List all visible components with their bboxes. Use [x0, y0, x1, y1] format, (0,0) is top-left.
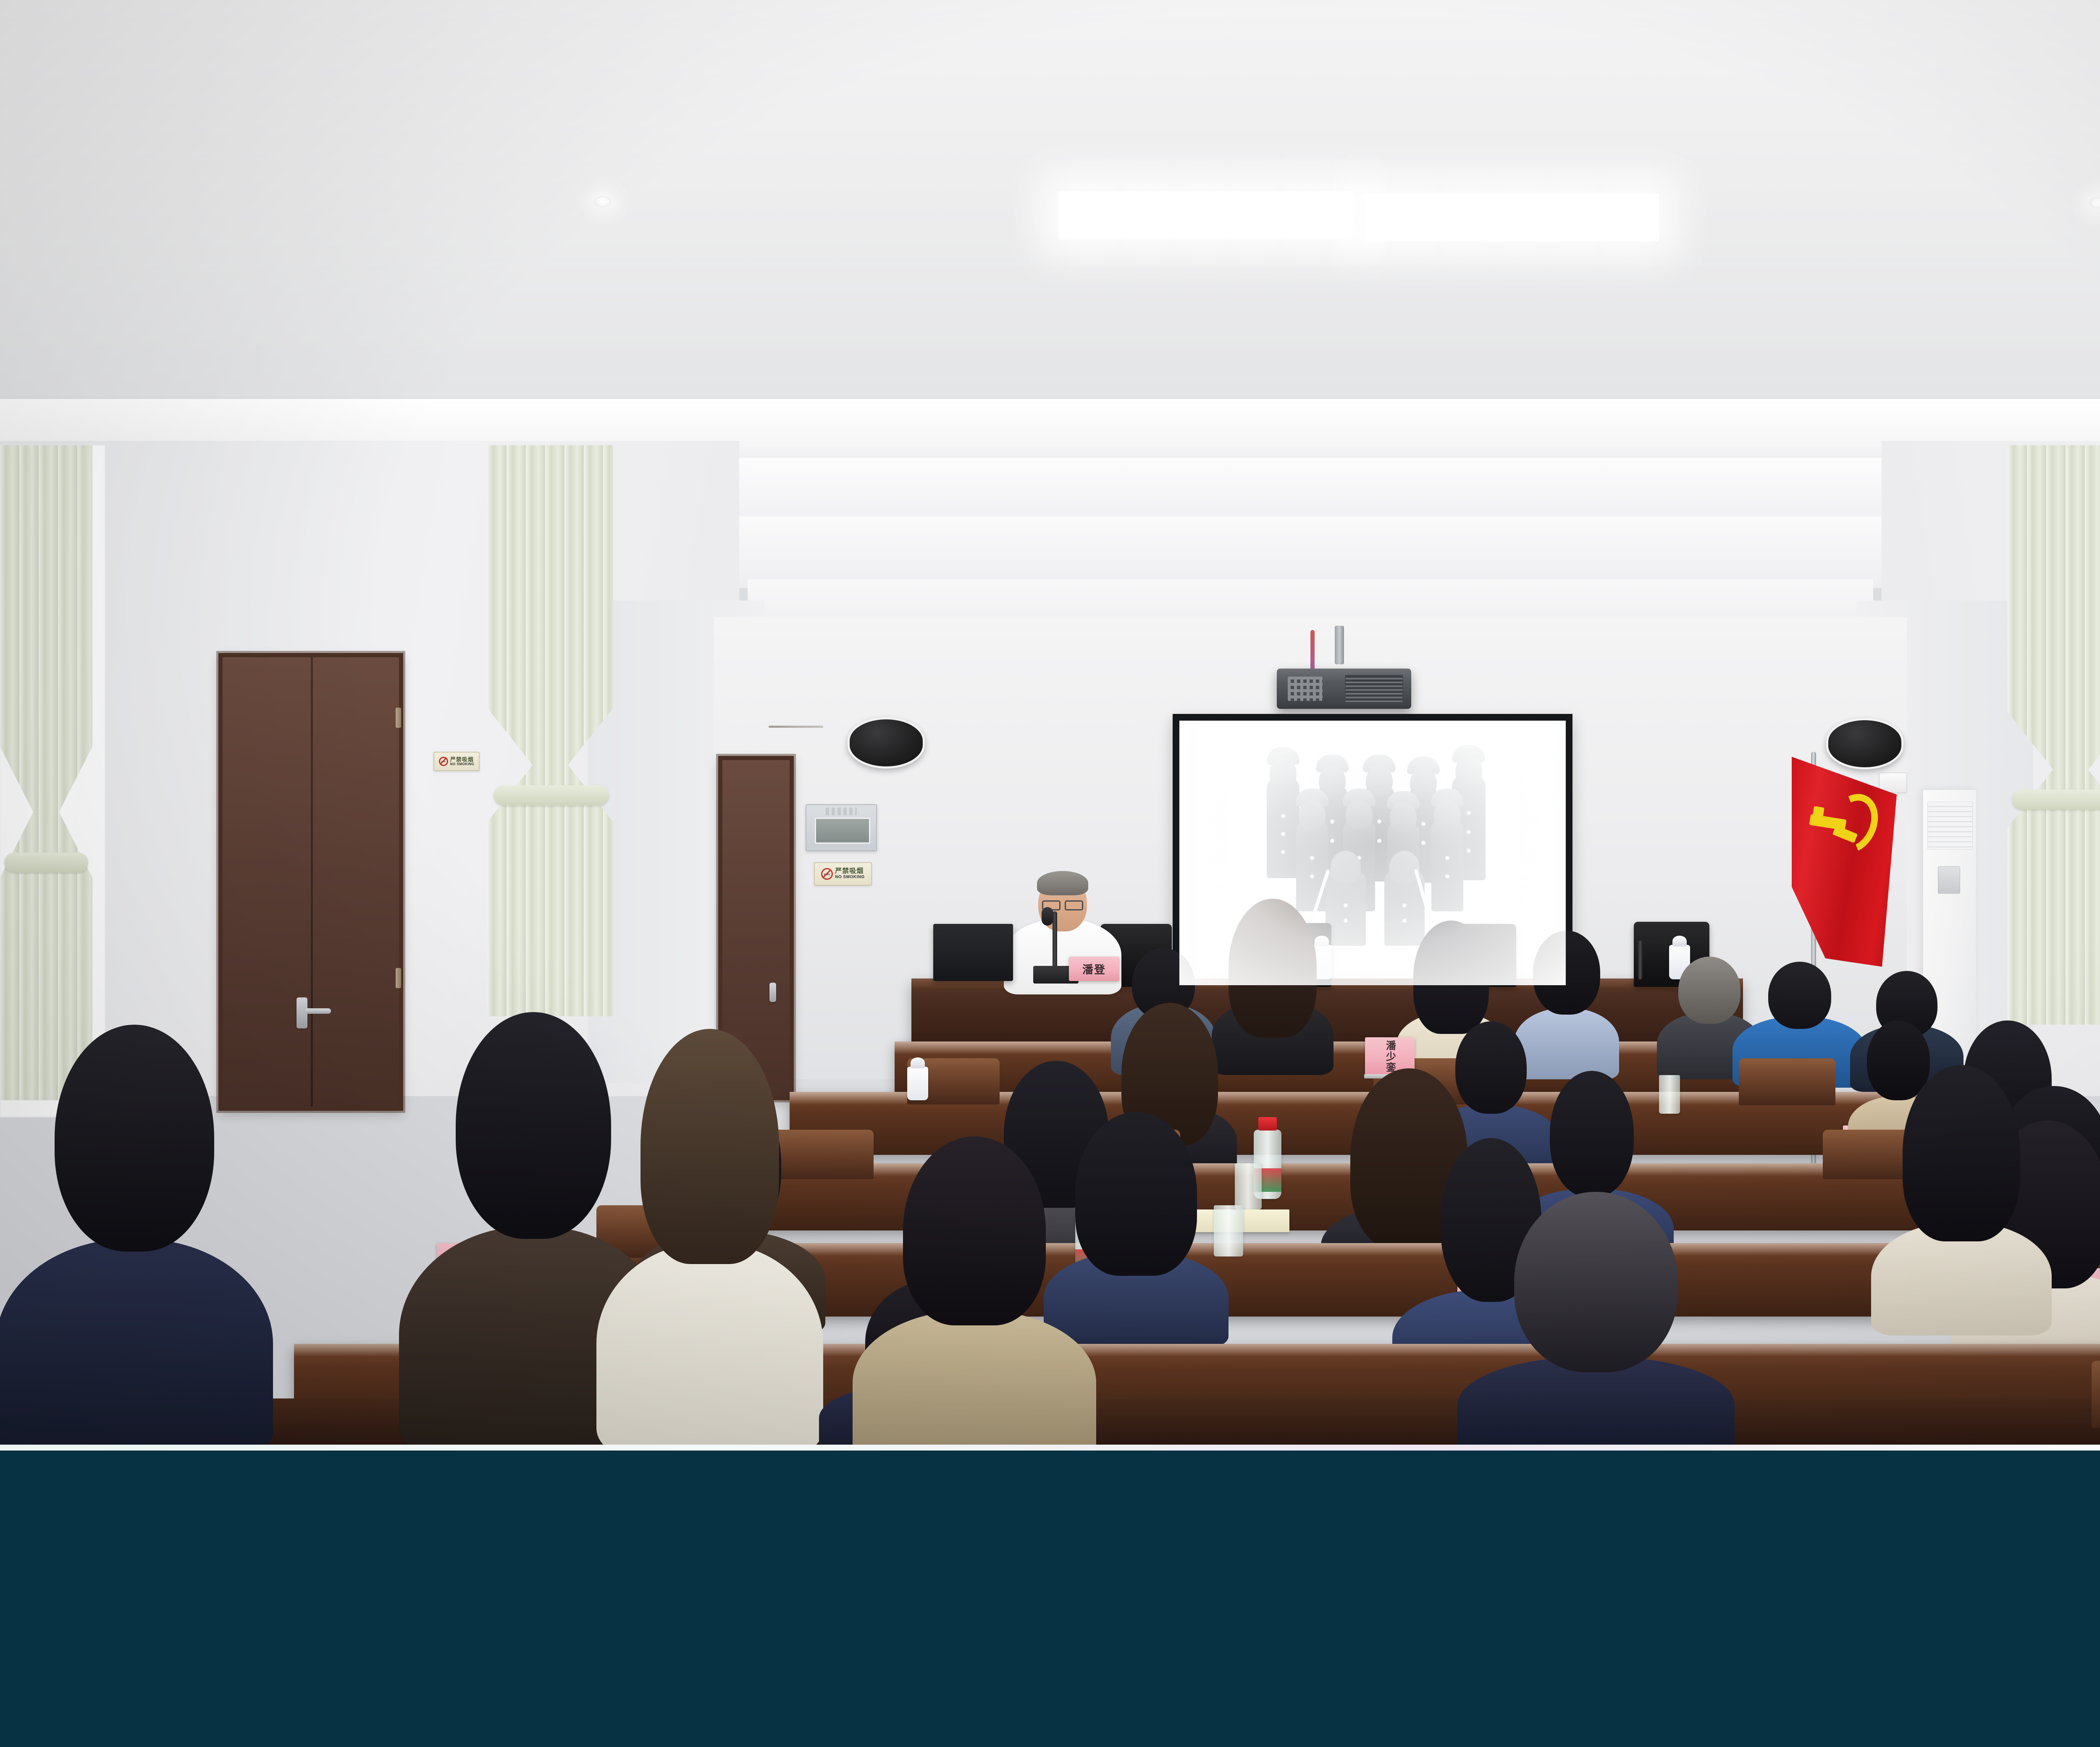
no-smoking-label-cn-2: 严禁吸烟 [835, 868, 865, 875]
ac-grille-top-2 [1927, 802, 1973, 850]
placard-speaker-text: 潘登 [1082, 961, 1106, 977]
bottle-cap-r3-1 [1258, 1117, 1277, 1131]
projector-keypad[interactable] [1288, 677, 1323, 701]
door-lever[interactable] [305, 1008, 331, 1014]
footer-fill [0, 1451, 2100, 1747]
attendee-r5-3-torso [596, 1243, 823, 1445]
hammer-sickle-emblem [1809, 790, 1878, 853]
ceiling-band-3 [554, 517, 2066, 588]
footer-hairline [0, 1445, 2100, 1451]
chair-row-2-c[interactable] [1739, 1058, 1835, 1105]
slide-soldier-mid-4 [1431, 819, 1463, 911]
head-table-mic-stem-3 [1638, 941, 1643, 979]
electrical-panel-caption [826, 808, 856, 815]
ceiling-downlight-1 [594, 196, 611, 207]
attendee-r5-5 [857, 1134, 1092, 1445]
projector-vent [1345, 675, 1403, 704]
slide-soldier-back-1 [1267, 777, 1299, 878]
no-smoking-label-en: NO SMOKING [450, 763, 474, 766]
projector-mount [1335, 626, 1344, 664]
ceiling-panel-light-right [1365, 193, 1659, 241]
door-handle-plate-2[interactable] [769, 983, 776, 1002]
glass-row-3 [1235, 1163, 1262, 1209]
ceiling-surface [0, 0, 2100, 445]
no-smoking-label-cn: 严禁吸烟 [450, 757, 474, 763]
curtain-sash-right-inner [2012, 790, 2100, 810]
wall-speaker-right [1826, 718, 1903, 769]
speaker-wire-left [769, 726, 823, 728]
no-smoking-sign-center: 严禁吸烟 NO SMOKING [814, 862, 872, 886]
ceiling-projector [1277, 669, 1411, 709]
attendee-r5-5-torso [853, 1310, 1096, 1445]
presenter-laptop[interactable] [933, 924, 1013, 981]
wall-speaker-left [848, 717, 925, 769]
door-center-split [311, 657, 313, 1107]
teacup-lid-row-2 [911, 1057, 925, 1068]
attendee-r5-8 [1873, 1062, 2050, 1331]
curtain-sash-left-outer [4, 853, 88, 873]
attendee-r5-1 [0, 1020, 269, 1445]
attendee-r5-8-hair [1903, 1065, 2020, 1241]
attendee-r5-6 [1462, 1188, 1730, 1445]
ac-control-panel-2[interactable] [1938, 866, 1960, 894]
attendee-r5-1-torso [0, 1239, 273, 1445]
electrical-panel [806, 804, 877, 851]
curtain-left-outer [0, 445, 92, 1100]
no-smoking-label-en-2: NO SMOKING [835, 875, 865, 880]
presenter-hair [1037, 871, 1088, 895]
teacup-row-2 [907, 1067, 928, 1100]
door-hinge-bottom [396, 968, 401, 988]
attendee-r5-2-head [456, 1012, 611, 1239]
electrical-panel-window [815, 818, 870, 844]
no-smoking-sign-left: 严禁吸烟 NO SMOKING [433, 752, 480, 771]
teacup-lid-2 [1672, 936, 1687, 947]
attendee-r5-5-hair [903, 1136, 1046, 1325]
attendee-r5-6-head [1514, 1192, 1678, 1372]
conference-room-photo: 严禁吸烟 NO SMOKING 严禁吸烟 NO SMOKING [0, 0, 2100, 1445]
attendee-r5-3-hair [640, 1029, 779, 1264]
attendee-r4-2-hair [1075, 1112, 1197, 1276]
door-hinge-top [396, 708, 401, 728]
no-smoking-icon [439, 757, 448, 766]
attendee-r1-6-head [1768, 962, 1831, 1029]
chair-row-5-b[interactable] [2092, 1361, 2100, 1428]
attendee-r1-2-hair [1228, 899, 1317, 1037]
attendee-r1-4-head [1533, 931, 1600, 1015]
curtain-sash-left-inner [493, 785, 609, 805]
curtain-left-inner [487, 445, 613, 1016]
attendee-r5-3 [601, 1025, 819, 1445]
no-smoking-icon-2 [821, 868, 833, 880]
screenshot-root: 严禁吸烟 NO SMOKING 严禁吸烟 NO SMOKING [0, 0, 2100, 1747]
presenter-microphone-head [1042, 907, 1053, 926]
ceiling-panel-light-left [1058, 191, 1352, 239]
attendee-r5-1-head [55, 1025, 214, 1251]
footer-band [0, 1445, 2100, 1747]
